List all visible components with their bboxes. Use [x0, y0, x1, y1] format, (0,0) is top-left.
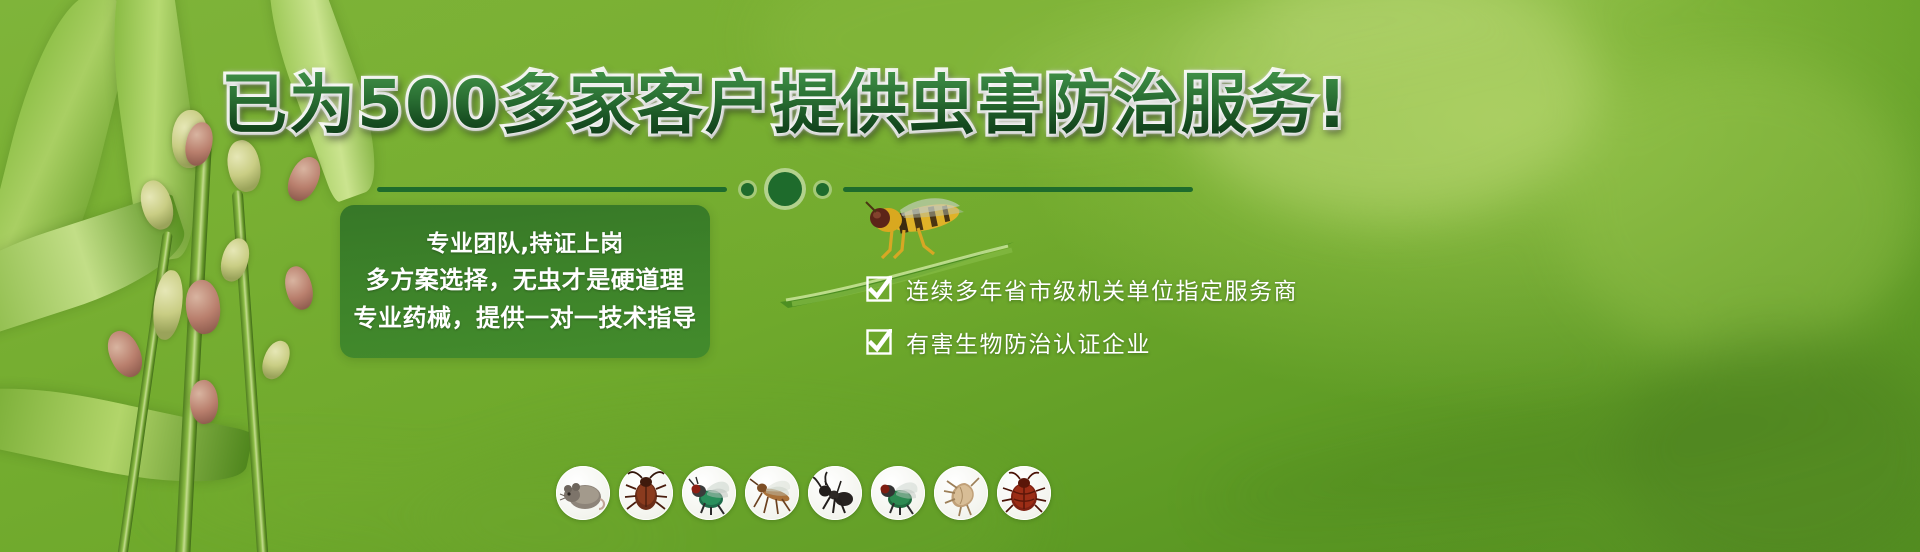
- rodent-icon: [556, 466, 610, 520]
- feature-label: 连续多年省市级机关单位指定服务商: [906, 272, 1298, 306]
- page-title: 已为500多家客户提供虫害防治服务!: [0, 72, 1570, 138]
- feature-item: 连续多年省市级机关单位指定服务商: [866, 272, 1298, 306]
- divider-line-left: [377, 187, 727, 192]
- feature-item: 有害生物防治认证企业: [866, 325, 1298, 359]
- ant-icon: [808, 466, 862, 520]
- blowfly-icon: [682, 466, 736, 520]
- slogan-line-3: 专业药械，提供一对一技术指导: [354, 306, 697, 331]
- slogan-line-1: 专业团队,持证上岗: [426, 232, 623, 256]
- pest-control-promo-banner: 已为500多家客户提供虫害防治服务! 已为500多家客户提供虫害防治服务! 专业…: [0, 0, 1920, 552]
- mosquito-icon: [745, 466, 799, 520]
- checkbox-checked-icon: [866, 276, 892, 302]
- checkbox-checked-icon: [866, 329, 892, 355]
- cockroach-icon: [619, 466, 673, 520]
- divider-line-right: [843, 187, 1193, 192]
- slogan-line-2: 多方案选择，无虫才是硬道理: [366, 268, 685, 293]
- housefly-icon: [871, 466, 925, 520]
- feature-list: 连续多年省市级机关单位指定服务商 有害生物防治认证企业: [866, 272, 1298, 359]
- decorative-dot-small-right: [816, 183, 829, 196]
- feature-label: 有害生物防治认证企业: [906, 325, 1151, 359]
- flea-icon: [934, 466, 988, 520]
- decorative-dot-large: [768, 172, 802, 206]
- slogan-panel: 专业团队,持证上岗 多方案选择，无虫才是硬道理 专业药械，提供一对一技术指导: [340, 205, 710, 358]
- pest-icon-row: [556, 466, 1051, 520]
- decorative-dot-small-left: [741, 183, 754, 196]
- divider: [0, 172, 1570, 206]
- bedbug-icon: [997, 466, 1051, 520]
